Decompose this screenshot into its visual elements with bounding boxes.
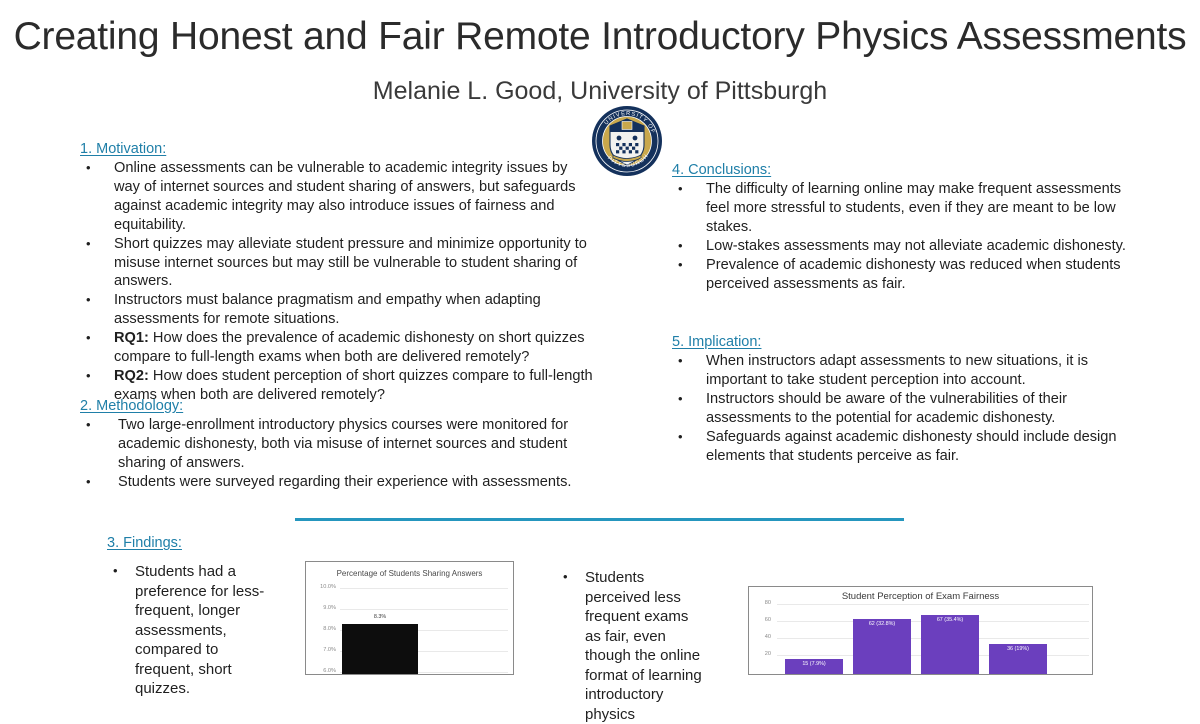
chart1-ytick: 6.0% — [308, 668, 336, 675]
chart1-bar-label: 8.3% — [342, 614, 418, 621]
chart2-bar-label: 67 (35.4%) — [921, 617, 979, 624]
list-item: Instructors must balance pragmatism and … — [80, 291, 595, 329]
list-item: Low-stakes assessments may not alleviate… — [672, 237, 1127, 256]
chart1-title: Percentage of Students Sharing Answers — [306, 569, 513, 579]
chart1-bar — [342, 624, 418, 675]
chart1-ytick: 9.0% — [308, 605, 336, 612]
motivation-list: Online assessments can be vulnerable to … — [80, 159, 595, 405]
list-item: When instructors adapt assessments to ne… — [672, 352, 1122, 390]
conclusions-list: The difficulty of learning online may ma… — [672, 180, 1127, 293]
chart2-ytick: 40 — [749, 634, 771, 641]
university-of-pittsburgh-seal-icon: UNIVERSITY OF PITTSBURGH — [591, 105, 663, 177]
list-item: Students had a preference for less-frequ… — [107, 562, 277, 699]
chart2-bar — [921, 615, 979, 675]
list-item: RQ1: How does the prevalence of academic… — [80, 329, 595, 367]
list-item: Students were surveyed regarding their e… — [80, 473, 580, 492]
gridline — [340, 588, 508, 589]
gridline — [777, 604, 1089, 605]
chart2-ytick: 60 — [749, 617, 771, 624]
heading-motivation: 1. Motivation: — [80, 141, 166, 158]
exam-fairness-chart: Student Perception of Exam Fairness 80 6… — [748, 586, 1093, 675]
poster-canvas: Creating Honest and Fair Remote Introduc… — [0, 0, 1200, 675]
chart1-ytick: 7.0% — [308, 647, 336, 654]
section-divider — [295, 518, 904, 521]
methodology-list: Two large-enrollment introductory physic… — [80, 416, 580, 492]
list-item: Safeguards against academic dishonesty s… — [672, 428, 1122, 466]
page-title: Creating Honest and Fair Remote Introduc… — [0, 14, 1200, 60]
sharing-answers-chart: Percentage of Students Sharing Answers 1… — [305, 561, 514, 675]
chart1-ytick: 8.0% — [308, 626, 336, 633]
findings-right-list: Students perceived less frequent exams a… — [557, 568, 707, 724]
chart2-bar-label: 62 (32.8%) — [853, 621, 911, 628]
list-item: The difficulty of learning online may ma… — [672, 180, 1127, 237]
chart2-ytick: 20 — [749, 651, 771, 658]
chart2-bar-label: 15 (7.9%) — [785, 661, 843, 668]
list-item: Instructors should be aware of the vulne… — [672, 390, 1122, 428]
list-item: Two large-enrollment introductory physic… — [80, 416, 580, 473]
list-item: Prevalence of academic dishonesty was re… — [672, 256, 1127, 294]
chart1-ytick: 10.0% — [308, 584, 336, 591]
findings-left-list: Students had a preference for less-frequ… — [107, 562, 277, 699]
heading-methodology: 2. Methodology: — [80, 398, 183, 415]
list-item: Online assessments can be vulnerable to … — [80, 159, 595, 235]
heading-implication: 5. Implication: — [672, 334, 761, 351]
author-line: Melanie L. Good, University of Pittsburg… — [0, 76, 1200, 106]
chart2-bar-label: 36 (19%) — [989, 646, 1047, 653]
heading-conclusions: 4. Conclusions: — [672, 162, 771, 179]
implication-list: When instructors adapt assessments to ne… — [672, 352, 1122, 465]
list-item: Short quizzes may alleviate student pres… — [80, 235, 595, 292]
chart2-ytick: 80 — [749, 600, 771, 607]
list-item: Students perceived less frequent exams a… — [557, 568, 707, 724]
gridline — [340, 609, 508, 610]
heading-findings: 3. Findings: — [107, 535, 182, 552]
chart2-title: Student Perception of Exam Fairness — [749, 591, 1092, 603]
